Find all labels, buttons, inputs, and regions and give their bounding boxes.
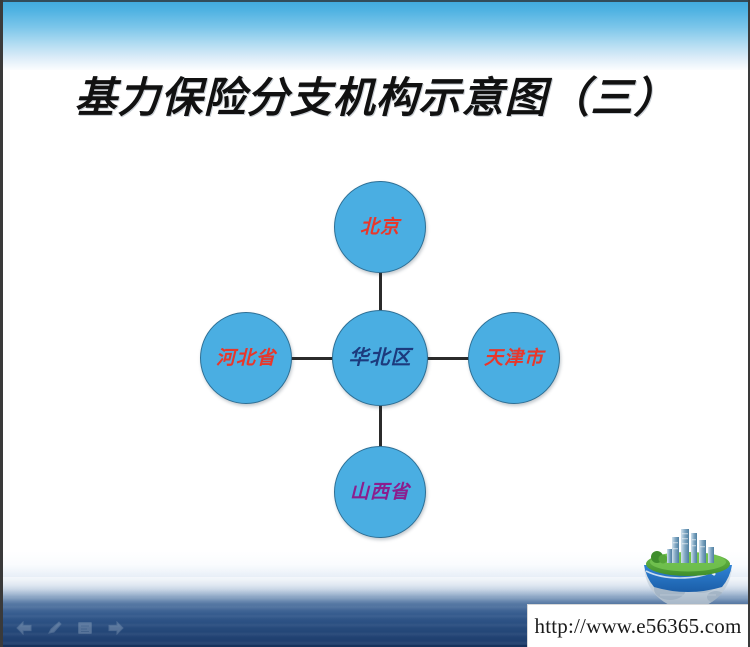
node-shanxi-label: 山西省 xyxy=(350,483,410,502)
connector-center-to-tianjin xyxy=(423,357,471,360)
node-tianjin[interactable]: 天津市 xyxy=(468,312,560,404)
node-north-china-region-label: 华北区 xyxy=(349,348,412,368)
connector-center-to-beijing xyxy=(379,268,382,314)
website-url-text: http://www.e56365.com xyxy=(535,614,742,639)
node-beijing-label: 北京 xyxy=(360,218,400,237)
node-tianjin-label: 天津市 xyxy=(484,349,544,368)
pen-icon[interactable] xyxy=(47,621,63,635)
connector-center-to-hebei xyxy=(289,357,337,360)
menu-icon[interactable] xyxy=(77,621,93,635)
node-beijing[interactable]: 北京 xyxy=(334,181,426,273)
back-arrow-icon[interactable] xyxy=(15,621,33,635)
node-hebei-label: 河北省 xyxy=(216,349,276,368)
node-shanxi[interactable]: 山西省 xyxy=(334,446,426,538)
node-north-china-region[interactable]: 华北区 xyxy=(332,310,428,406)
presentation-nav-controls[interactable] xyxy=(15,621,125,635)
node-hebei[interactable]: 河北省 xyxy=(200,312,292,404)
forward-arrow-icon[interactable] xyxy=(107,621,125,635)
presentation-slide: 基力保险分支机构示意图（三） 北京 河北省 华北区 天津市 山西省 xyxy=(0,0,750,647)
connector-center-to-shanxi xyxy=(379,402,382,448)
website-url-box: http://www.e56365.com xyxy=(527,604,748,647)
